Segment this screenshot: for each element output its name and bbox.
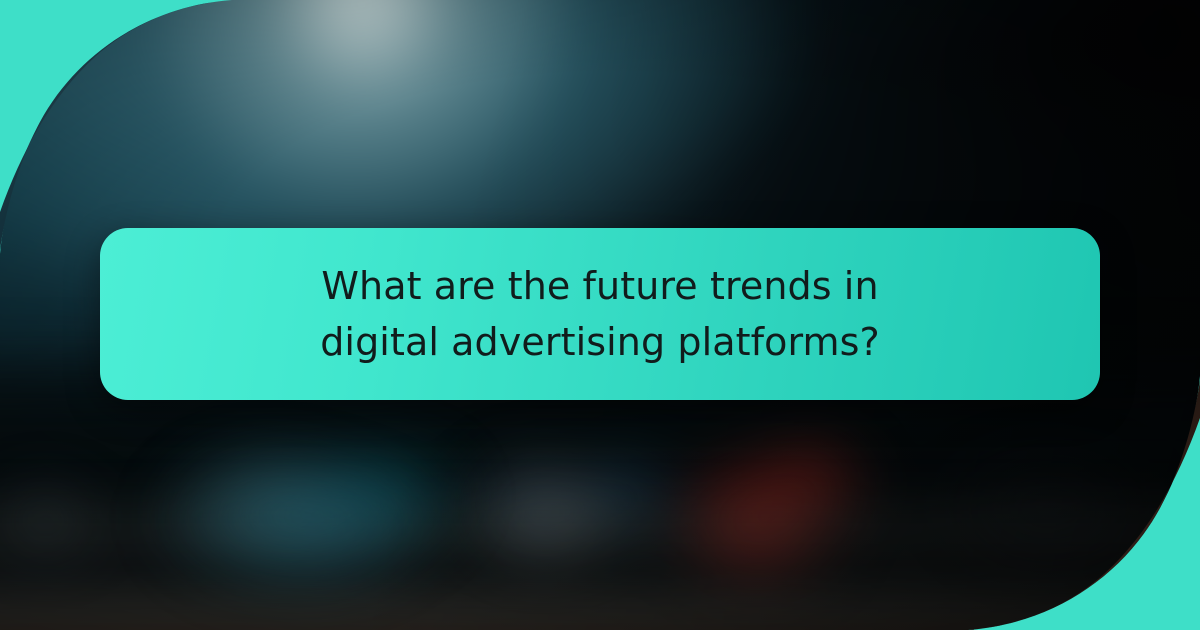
question-text: What are the future trends in digital ad… <box>280 258 920 370</box>
question-card: What are the future trends in digital ad… <box>100 228 1100 400</box>
quote-card-canvas: What are the future trends in digital ad… <box>0 0 1200 630</box>
